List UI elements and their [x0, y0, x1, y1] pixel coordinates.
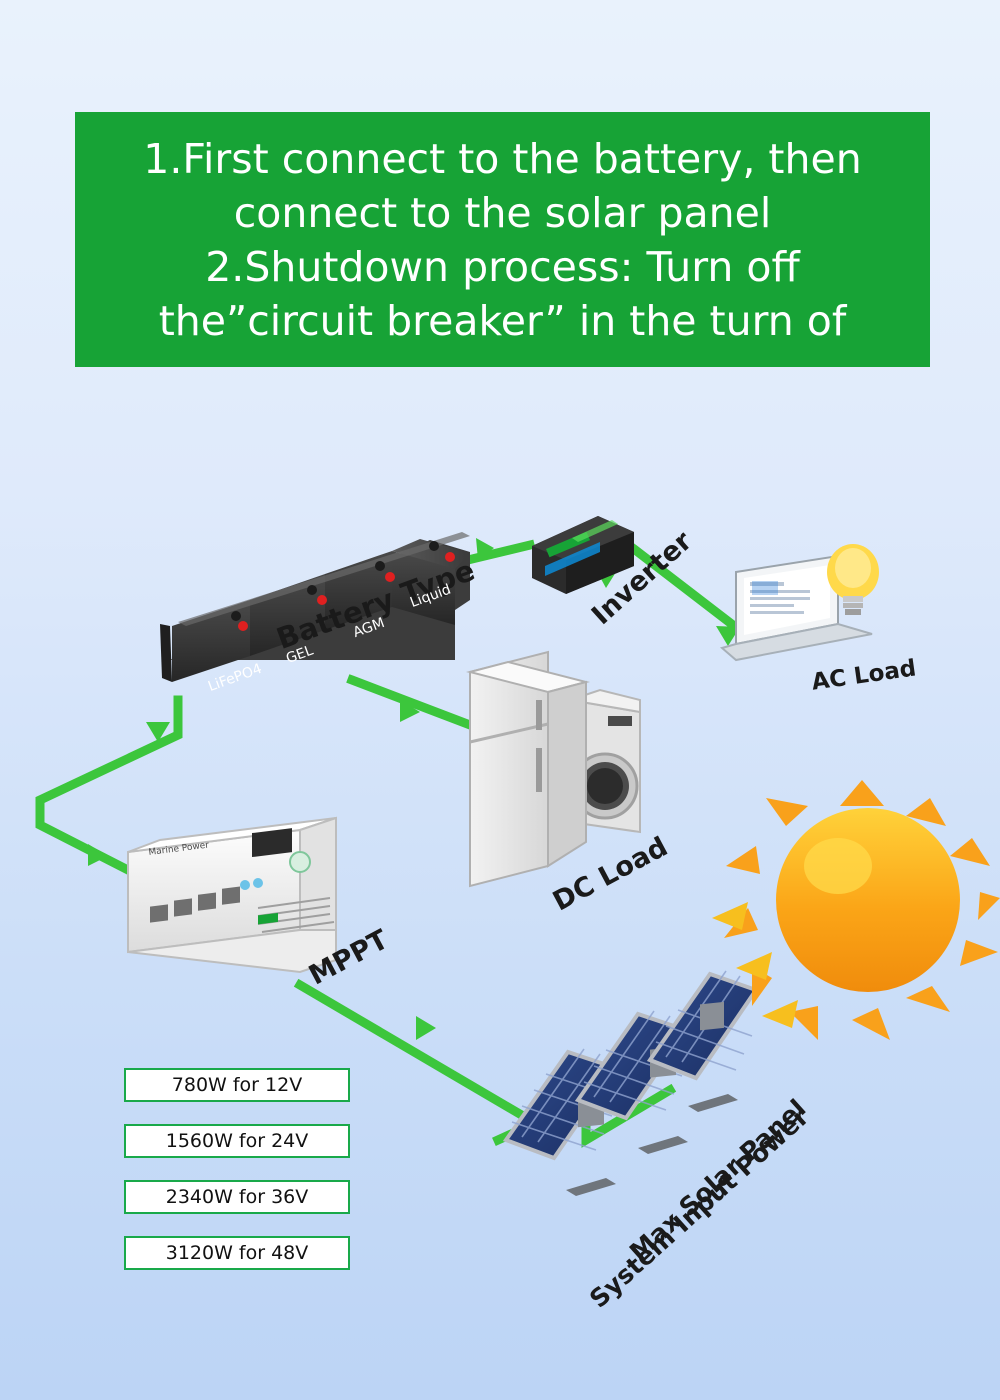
power-row-4: 3120W for 48V — [124, 1236, 350, 1270]
mppt-controller — [128, 818, 336, 972]
power-row-1: 780W for 12V — [124, 1068, 350, 1102]
dc-load-appliances — [470, 652, 640, 886]
power-row-3: 2340W for 36V — [124, 1180, 350, 1214]
sun-icon — [724, 780, 1000, 1040]
power-row-2: 1560W for 24V — [124, 1124, 350, 1158]
